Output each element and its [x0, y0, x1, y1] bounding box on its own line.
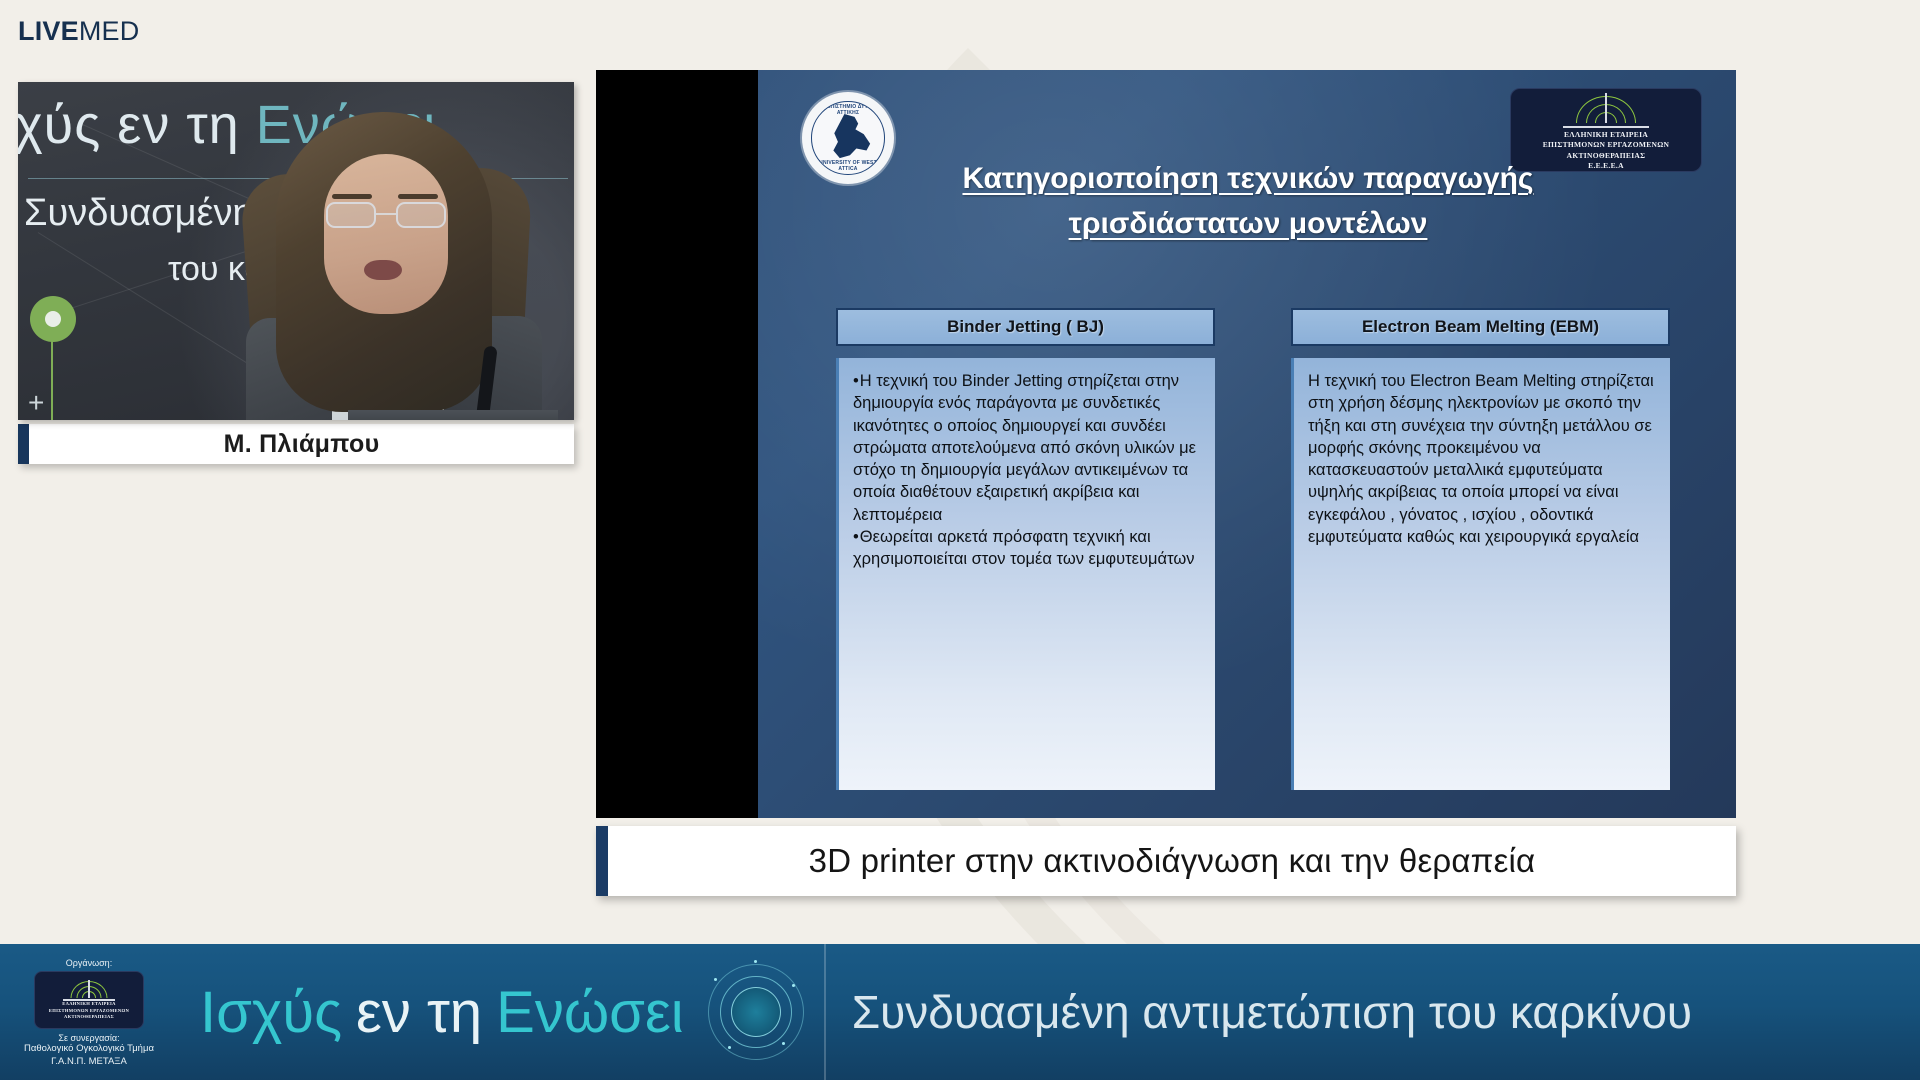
speaker-name: Μ. Πλιάμπου	[224, 430, 380, 459]
column-binder-jetting: Binder Jetting ( BJ) Η τεχνική του Binde…	[836, 308, 1215, 790]
banner-orb-graphic	[694, 950, 818, 1074]
cooperation-name-line1: Παθολογικό Ογκολογικό Τμήμα	[24, 1043, 154, 1055]
speaker-video[interactable]: σχύς εν τη Ενώσει Συνδυασμένη α ύπιση το…	[18, 82, 574, 420]
backdrop-green-stem	[51, 340, 53, 420]
presentation-title: 3D printer στην ακτινοδιάγνωση και την θ…	[809, 842, 1536, 880]
organizer-label: Οργάνωση:	[66, 958, 112, 968]
presentation-title-bar: 3D printer στην ακτινοδιάγνωση και την θ…	[596, 826, 1736, 896]
radiation-arcs-icon	[66, 980, 112, 998]
cooperation-name: Παθολογικό Ογκολογικό Τμήμα Γ.Α.Ν.Π. ΜΕΤ…	[24, 1043, 154, 1068]
slogan-word-3: Ενώσει	[496, 979, 684, 1046]
slogan-word-1: Ισχύς	[200, 979, 342, 1046]
slide-content[interactable]: ΠΑΝΕΠΙΣΤΗΜΙΟ ΔΥΤΙΚΗΣ ΑΤΤΙΚΗΣ UNIVERSITY …	[758, 70, 1736, 818]
cooperation-name-line2: Γ.Α.Ν.Π. ΜΕΤΑΞΑ	[24, 1056, 154, 1068]
technique-columns: Binder Jetting ( BJ) Η τεχνική του Binde…	[836, 308, 1670, 790]
podium	[348, 410, 558, 420]
badge-line-1: ΕΛΛΗΝΙΚΗ ΕΤΑΙΡΕΙΑ	[1543, 130, 1670, 140]
eyeglasses-icon	[324, 202, 450, 228]
backdrop-green-dot-icon	[30, 296, 76, 342]
column-paragraph: Η τεχνική του Electron Beam Melting στηρ…	[1308, 370, 1656, 548]
banner-divider	[824, 944, 826, 1080]
column-header: Binder Jetting ( BJ)	[836, 308, 1215, 346]
seal-text-top: ΠΑΝΕΠΙΣΤΗΜΙΟ ΔΥΤΙΚΗΣ ΑΤΤΙΚΗΣ	[812, 104, 884, 116]
radiation-arcs-icon	[1569, 93, 1643, 123]
cooperation-label: Σε συνεργασία:	[58, 1033, 119, 1043]
brand-med: MED	[79, 16, 140, 47]
slide-title-line2: τρισδιάστατων μοντέλων	[1069, 207, 1428, 240]
slogan-word-2: εν τη	[356, 979, 482, 1046]
brand-live: LIVE	[18, 16, 79, 47]
column-body: Η τεχνική του Electron Beam Melting στηρ…	[1291, 358, 1670, 790]
badge-line-2: ΕΠΙΣΤΗΜΟΝΩΝ ΕΡΓΑΖΟΜΕΝΩΝ	[1543, 140, 1670, 150]
column-electron-beam-melting: Electron Beam Melting (EBM) Η τεχνική το…	[1291, 308, 1670, 790]
banner-slogan: Ισχύς εν τη Ενώσει	[200, 979, 684, 1046]
bottom-banner: Οργάνωση: ΕΛΛΗΝΙΚΗ ΕΤΑΙΡΕΙΑ ΕΠΙΣΤΗΜΟΝΩΝ …	[0, 944, 1920, 1080]
backdrop-slogan-word1: σχύς	[18, 95, 101, 155]
speaker-panel[interactable]: σχύς εν τη Ενώσει Συνδυασμένη α ύπιση το…	[18, 82, 574, 464]
column-paragraph: Θεωρείται αρκετά πρόσφατη τεχνική και χρ…	[853, 526, 1201, 571]
slide-title-line1: Κατηγοριοποίηση τεχνικών παραγωγής	[962, 162, 1533, 195]
banner-subtitle: Συνδυασμένη αντιμετώπιση του καρκίνου	[852, 985, 1692, 1039]
backdrop-slogan-word2: εν τη	[117, 95, 239, 155]
organizer-badge-line-3: ΑΚΤΙΝΟΘΕΡΑΠΕΙΑΣ	[49, 1014, 129, 1020]
column-header: Electron Beam Melting (EBM)	[1291, 308, 1670, 346]
slide-title: Κατηγοριοποίηση τεχνικών παραγωγής τρισδ…	[868, 156, 1628, 246]
livemed-logo: LIVE MED	[18, 16, 139, 47]
speaker-figure	[228, 110, 558, 420]
backdrop-plus-icon: +	[28, 387, 44, 419]
organizer-logo-badge: ΕΛΛΗΝΙΚΗ ΕΤΑΙΡΕΙΑ ΕΠΙΣΤΗΜΟΝΩΝ ΕΡΓΑΖΟΜΕΝΩ…	[34, 971, 144, 1029]
column-body: Η τεχνική του Binder Jetting στηρίζεται …	[836, 358, 1215, 790]
speaker-nameplate: Μ. Πλιάμπου	[18, 424, 574, 464]
organizer-block: Οργάνωση: ΕΛΛΗΝΙΚΗ ΕΤΑΙΡΕΙΑ ΕΠΙΣΤΗΜΟΝΩΝ …	[0, 944, 178, 1080]
column-paragraph: Η τεχνική του Binder Jetting στηρίζεται …	[853, 370, 1201, 526]
organizer-badge-line-2: ΕΠΙΣΤΗΜΟΝΩΝ ΕΡΓΑΖΟΜΕΝΩΝ	[49, 1008, 129, 1014]
slide-stage[interactable]: ΠΑΝΕΠΙΣΤΗΜΙΟ ΔΥΤΙΚΗΣ ΑΤΤΙΚΗΣ UNIVERSITY …	[596, 70, 1736, 818]
